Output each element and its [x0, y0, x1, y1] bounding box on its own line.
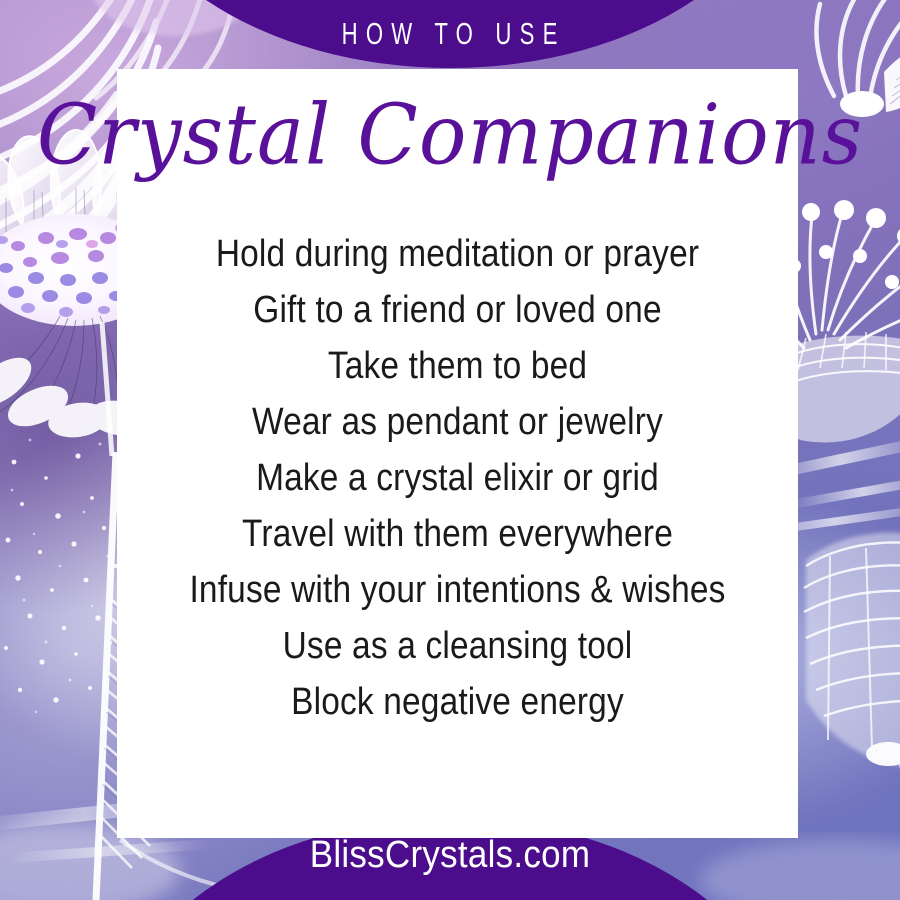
allium-seedhead-top-right: [816, 0, 900, 117]
content-card: [117, 69, 798, 838]
poster-canvas: HOW TO USE Crystal Companions Hold durin…: [0, 0, 900, 900]
